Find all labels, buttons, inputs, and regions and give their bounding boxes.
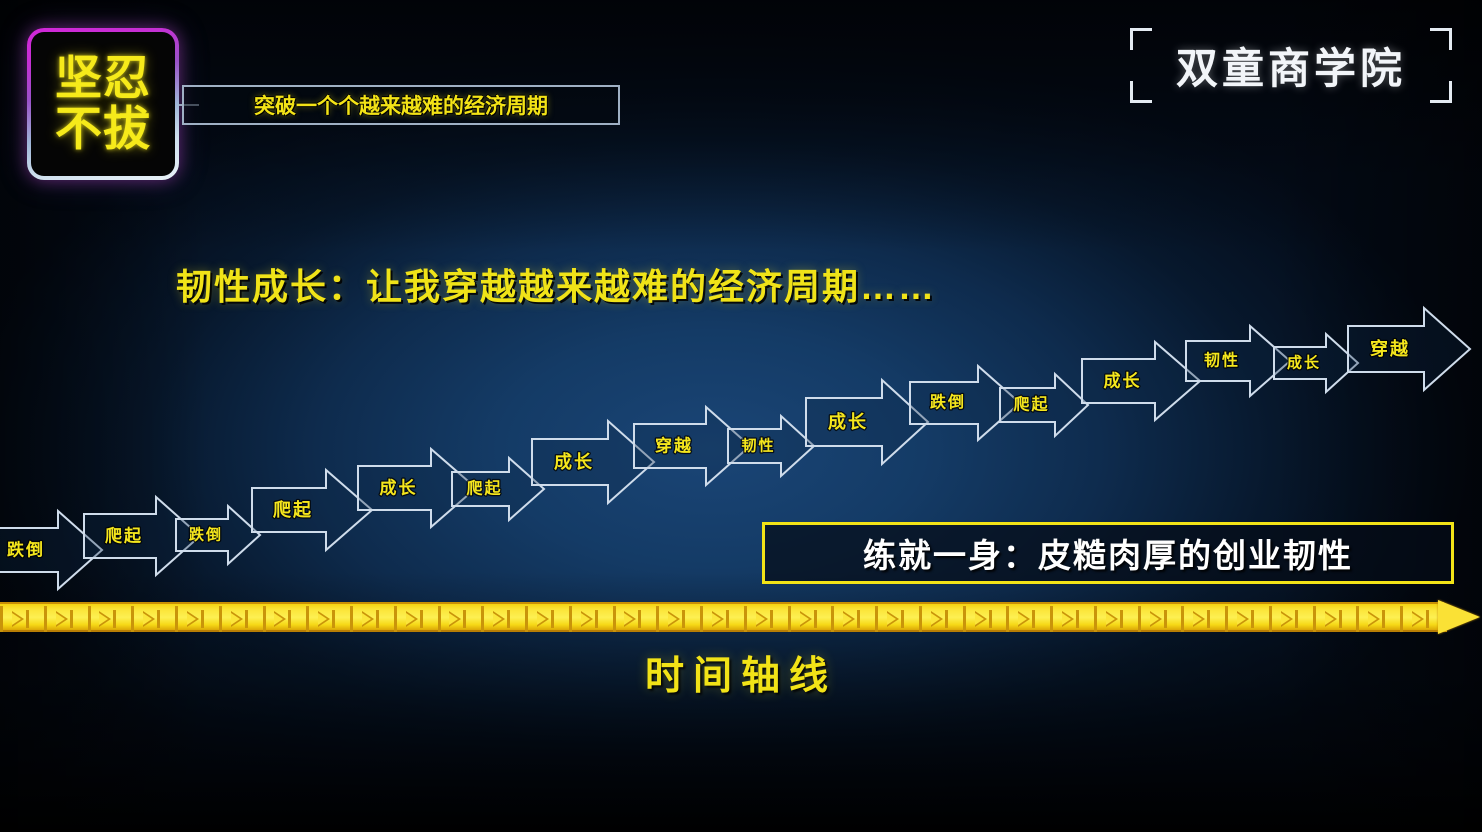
timeline-tick xyxy=(44,606,47,632)
timeline-tick xyxy=(1400,606,1403,632)
marker-bar-icon xyxy=(26,610,29,628)
timeline-tick xyxy=(875,606,878,632)
marker-bar-icon xyxy=(245,610,248,628)
timeline-tick xyxy=(1269,606,1272,632)
marker-triangle-inner-icon xyxy=(712,613,721,625)
marker-triangle-inner-icon xyxy=(449,613,458,625)
timeline-tick xyxy=(700,606,703,632)
badge-line-2: 不拔 xyxy=(55,104,151,155)
marker-triangle-inner-icon xyxy=(1018,613,1027,625)
timeline-marker-icon xyxy=(449,610,469,628)
timeline-marker-icon xyxy=(668,610,688,628)
marker-bar-icon xyxy=(1295,610,1298,628)
timeline-marker-icon xyxy=(12,610,32,628)
timeline-marker-icon xyxy=(1412,610,1432,628)
timeline-tick xyxy=(788,606,791,632)
timeline-marker-icon xyxy=(1281,610,1301,628)
timeline-tick xyxy=(306,606,309,632)
subtitle-text: 突破一个个越来越难的经济周期 xyxy=(254,90,548,120)
callout-box: 练就一身：皮糙肉厚的创业韧性 xyxy=(762,522,1454,584)
timeline-tick xyxy=(1006,606,1009,632)
timeline-marker-icon xyxy=(712,610,732,628)
timeline-tick xyxy=(438,606,441,632)
timeline-tick xyxy=(919,606,922,632)
timeline-marker-icon xyxy=(1237,610,1257,628)
timeline-tick xyxy=(175,606,178,632)
timeline-arrowhead-icon xyxy=(1438,600,1480,634)
marker-bar-icon xyxy=(1251,610,1254,628)
timeline-tick xyxy=(88,606,91,632)
timeline-marker-icon xyxy=(1368,610,1388,628)
timeline-bar xyxy=(0,602,1444,632)
marker-bar-icon xyxy=(814,610,817,628)
timeline-marker-icon xyxy=(187,610,207,628)
timeline-marker-icon xyxy=(843,610,863,628)
timeline-tick xyxy=(1050,606,1053,632)
axis-caption: 时间轴线 xyxy=(0,645,1482,701)
timeline-marker-icon xyxy=(581,610,601,628)
timeline-tick xyxy=(1138,606,1141,632)
timeline-tick xyxy=(481,606,484,632)
timeline-marker-icon xyxy=(975,610,995,628)
timeline-tick xyxy=(1313,606,1316,632)
logo-text: 双童商学院 xyxy=(1130,28,1452,103)
marker-bar-icon xyxy=(507,610,510,628)
marker-triangle-inner-icon xyxy=(143,613,152,625)
marker-bar-icon xyxy=(638,610,641,628)
marker-bar-icon xyxy=(726,610,729,628)
timeline-marker-icon xyxy=(362,610,382,628)
marker-bar-icon xyxy=(157,610,160,628)
marker-triangle-inner-icon xyxy=(274,613,283,625)
subtitle-box: 突破一个个越来越难的经济周期 xyxy=(182,85,620,125)
marker-triangle-inner-icon xyxy=(56,613,65,625)
timeline-marker-icon xyxy=(406,610,426,628)
timeline-axis xyxy=(0,602,1482,632)
marker-bar-icon xyxy=(857,610,860,628)
badge-line-1: 坚忍 xyxy=(55,53,151,104)
timeline-tick xyxy=(525,606,528,632)
timeline-marker-icon xyxy=(624,610,644,628)
marker-bar-icon xyxy=(1076,610,1079,628)
marker-bar-icon xyxy=(1426,610,1429,628)
callout-text: 练就一身：皮糙肉厚的创业韧性 xyxy=(863,529,1353,577)
marker-bar-icon xyxy=(901,610,904,628)
marker-bar-icon xyxy=(1339,610,1342,628)
timeline-tick xyxy=(1356,606,1359,632)
timeline-tick xyxy=(219,606,222,632)
timeline-marker-icon xyxy=(1018,610,1038,628)
marker-triangle-inner-icon xyxy=(1150,613,1159,625)
marker-bar-icon xyxy=(989,610,992,628)
marker-triangle-inner-icon xyxy=(756,613,765,625)
marker-triangle-inner-icon xyxy=(624,613,633,625)
marker-triangle-inner-icon xyxy=(931,613,940,625)
marker-bar-icon xyxy=(1164,610,1167,628)
marker-triangle-inner-icon xyxy=(1106,613,1115,625)
timeline-marker-icon xyxy=(56,610,76,628)
marker-triangle-inner-icon xyxy=(1281,613,1290,625)
timeline-tick xyxy=(1094,606,1097,632)
timeline-tick xyxy=(1181,606,1184,632)
marker-triangle-inner-icon xyxy=(493,613,502,625)
marker-triangle-inner-icon xyxy=(1062,613,1071,625)
marker-triangle-inner-icon xyxy=(1412,613,1421,625)
marker-bar-icon xyxy=(70,610,73,628)
timeline-marker-icon xyxy=(231,610,251,628)
timeline-tick xyxy=(569,606,572,632)
timeline-marker-icon xyxy=(1150,610,1170,628)
page-title: 韧性成长：让我穿越越来越难的经济周期…… xyxy=(176,258,936,310)
marker-triangle-inner-icon xyxy=(1368,613,1377,625)
timeline-marker-icon xyxy=(274,610,294,628)
marker-bar-icon xyxy=(1382,610,1385,628)
timeline-tick xyxy=(1225,606,1228,632)
marker-bar-icon xyxy=(1207,610,1210,628)
timeline-tick xyxy=(263,606,266,632)
marker-triangle-inner-icon xyxy=(187,613,196,625)
timeline-marker-icon xyxy=(537,610,557,628)
marker-bar-icon xyxy=(463,610,466,628)
marker-triangle-inner-icon xyxy=(668,613,677,625)
timeline-tick xyxy=(0,606,3,632)
timeline-tick xyxy=(963,606,966,632)
timeline-tick xyxy=(613,606,616,632)
timeline-marker-icon xyxy=(800,610,820,628)
timeline-marker-icon xyxy=(931,610,951,628)
timeline-marker-icon xyxy=(756,610,776,628)
marker-triangle-inner-icon xyxy=(843,613,852,625)
marker-bar-icon xyxy=(201,610,204,628)
marker-bar-icon xyxy=(288,610,291,628)
timeline-marker-icon xyxy=(887,610,907,628)
timeline-marker-icon xyxy=(99,610,119,628)
timeline-tick xyxy=(831,606,834,632)
timeline-tick xyxy=(131,606,134,632)
marker-triangle-inner-icon xyxy=(406,613,415,625)
marker-triangle-inner-icon xyxy=(1193,613,1202,625)
marker-triangle-inner-icon xyxy=(1237,613,1246,625)
marker-bar-icon xyxy=(770,610,773,628)
marker-triangle-inner-icon xyxy=(12,613,21,625)
marker-triangle-inner-icon xyxy=(887,613,896,625)
marker-triangle-inner-icon xyxy=(537,613,546,625)
timeline-marker-icon xyxy=(318,610,338,628)
marker-bar-icon xyxy=(945,610,948,628)
marker-triangle-inner-icon xyxy=(800,613,809,625)
timeline-marker-icon xyxy=(1062,610,1082,628)
marker-bar-icon xyxy=(376,610,379,628)
marker-bar-icon xyxy=(420,610,423,628)
perseverance-badge: 坚忍 不拔 xyxy=(27,28,179,180)
marker-triangle-inner-icon xyxy=(1325,613,1334,625)
marker-triangle-inner-icon xyxy=(975,613,984,625)
timeline-marker-icon xyxy=(1325,610,1345,628)
marker-triangle-inner-icon xyxy=(581,613,590,625)
timeline-tick xyxy=(656,606,659,632)
marker-bar-icon xyxy=(551,610,554,628)
marker-bar-icon xyxy=(1120,610,1123,628)
marker-triangle-inner-icon xyxy=(318,613,327,625)
marker-bar-icon xyxy=(682,610,685,628)
marker-triangle-inner-icon xyxy=(231,613,240,625)
perseverance-badge-inner: 坚忍 不拔 xyxy=(31,32,175,176)
brand-logo: 双童商学院 xyxy=(1130,28,1452,103)
timeline-marker-icon xyxy=(1193,610,1213,628)
timeline-marker-icon xyxy=(143,610,163,628)
marker-bar-icon xyxy=(595,610,598,628)
marker-triangle-inner-icon xyxy=(99,613,108,625)
slide-canvas: 坚忍 不拔 突破一个个越来越难的经济周期 双童商学院 韧性成长：让我穿越越来越难… xyxy=(0,0,1482,832)
timeline-marker-icon xyxy=(493,610,513,628)
timeline-marker-icon xyxy=(1106,610,1126,628)
marker-bar-icon xyxy=(332,610,335,628)
timeline-tick xyxy=(744,606,747,632)
timeline-tick xyxy=(350,606,353,632)
marker-bar-icon xyxy=(1032,610,1035,628)
marker-triangle-inner-icon xyxy=(362,613,371,625)
marker-bar-icon xyxy=(113,610,116,628)
timeline-tick xyxy=(394,606,397,632)
